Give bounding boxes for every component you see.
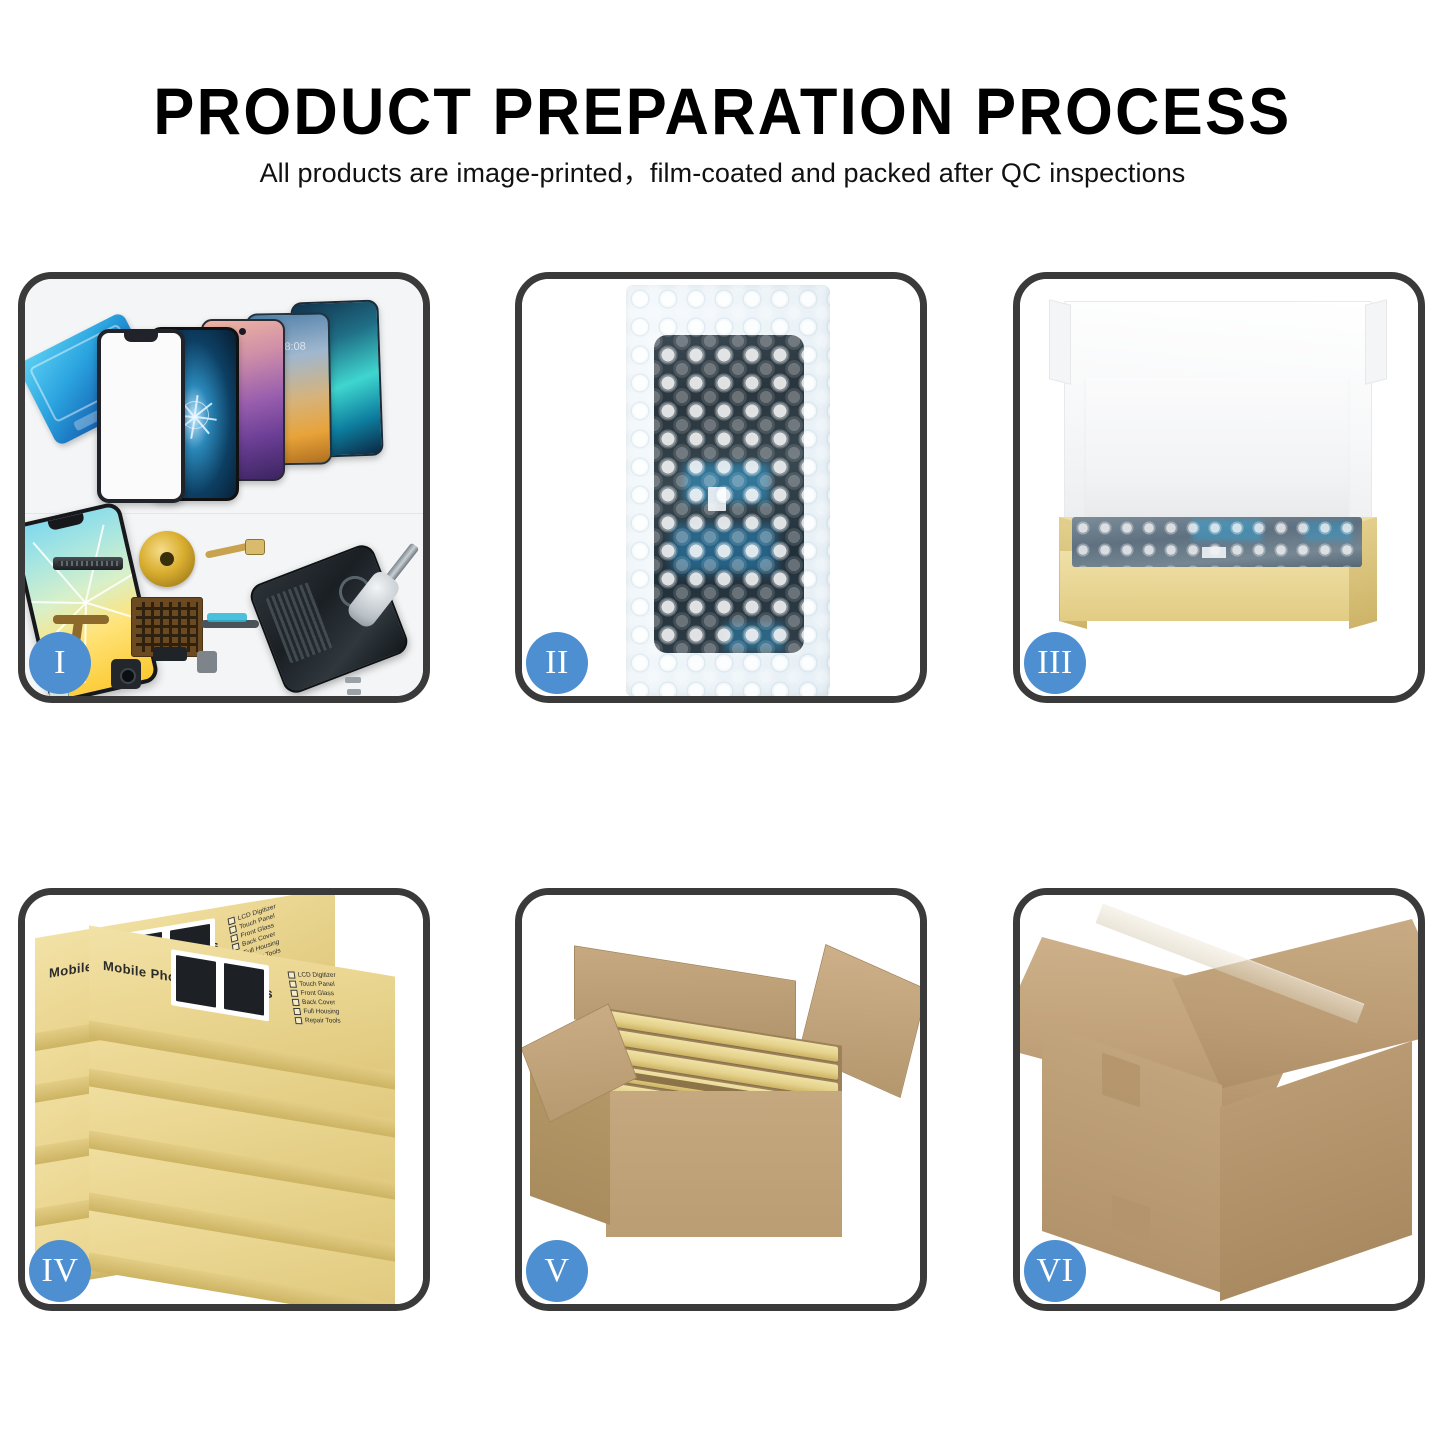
- bubble-wrap-sleeve: [626, 285, 830, 696]
- checklist-item: Full Housing: [303, 1007, 340, 1016]
- checklist-item: Touch Panel: [299, 980, 336, 989]
- power-flex-cable-part: [205, 537, 265, 565]
- item-bubble-pattern: [1072, 517, 1362, 567]
- bubble-wrapped-item-in-box: [1072, 517, 1362, 567]
- checklist-item: Back Cover: [301, 998, 336, 1007]
- checkbox-icon: [289, 981, 297, 988]
- step-badge-2: II: [526, 632, 588, 694]
- screw-part-1: [345, 677, 361, 683]
- step-badge-4: IV: [29, 1240, 91, 1302]
- step-badge-5: V: [526, 1240, 588, 1302]
- step-6-image: [1020, 895, 1418, 1304]
- volume-flex-cable-part: [201, 609, 273, 641]
- checkbox-icon: [288, 971, 296, 978]
- foam-insert: [1086, 377, 1348, 517]
- screen-3-punch-hole: [239, 328, 246, 335]
- screen-reflection-3: [724, 623, 784, 651]
- screen-label-sticker: [708, 487, 726, 511]
- carton-front-face: [606, 1091, 842, 1237]
- checklist-item: LCD Digitizer: [297, 971, 336, 980]
- screen-reflection-1: [684, 463, 770, 503]
- step-4-image: Mobile Phone Spare Parts LCD Digitizer T…: [25, 895, 423, 1304]
- retail-label-checklist-front: LCD Digitizer Touch Panel Front Glass Ba…: [287, 970, 390, 1026]
- checklist-item: Repair Tools: [304, 1016, 341, 1025]
- step-1-image: 08:08: [25, 279, 423, 696]
- wrapped-lcd-screen: [654, 335, 804, 653]
- screw-part-2: [347, 689, 361, 695]
- label-photo-2: [222, 961, 266, 1018]
- retail-label-product-photos-front: [171, 949, 269, 1021]
- item-label-sticker: [1202, 547, 1226, 558]
- step-5-image: [522, 895, 920, 1304]
- speaker-part: [139, 531, 195, 587]
- cracked-phone-notch: [48, 513, 85, 531]
- earpiece-mesh-part: [53, 557, 123, 570]
- step-3-image: [1020, 279, 1418, 696]
- screen-reflection-2: [672, 525, 776, 573]
- checkbox-icon: [290, 990, 298, 997]
- checkbox-icon: [292, 999, 300, 1006]
- connector-part: [153, 647, 187, 661]
- retail-box-stack: Mobile Phone Spare Parts LCD Digitizer T…: [31, 929, 423, 1289]
- camera-module-part: [111, 659, 141, 689]
- checkbox-icon: [293, 1008, 301, 1015]
- checklist-item: Front Glass: [300, 989, 335, 998]
- step-badge-3: III: [1024, 632, 1086, 694]
- step-badge-6: VI: [1024, 1240, 1086, 1302]
- step-2-image: [522, 279, 920, 696]
- phone-front-glass: [97, 329, 185, 503]
- button-part: [197, 651, 217, 673]
- process-step-grid: 08:08: [0, 0, 1445, 1445]
- front-glass-notch: [124, 333, 158, 342]
- checkbox-icon: [295, 1017, 303, 1024]
- step-badge-1: I: [29, 632, 91, 694]
- label-photo-1: [174, 953, 218, 1010]
